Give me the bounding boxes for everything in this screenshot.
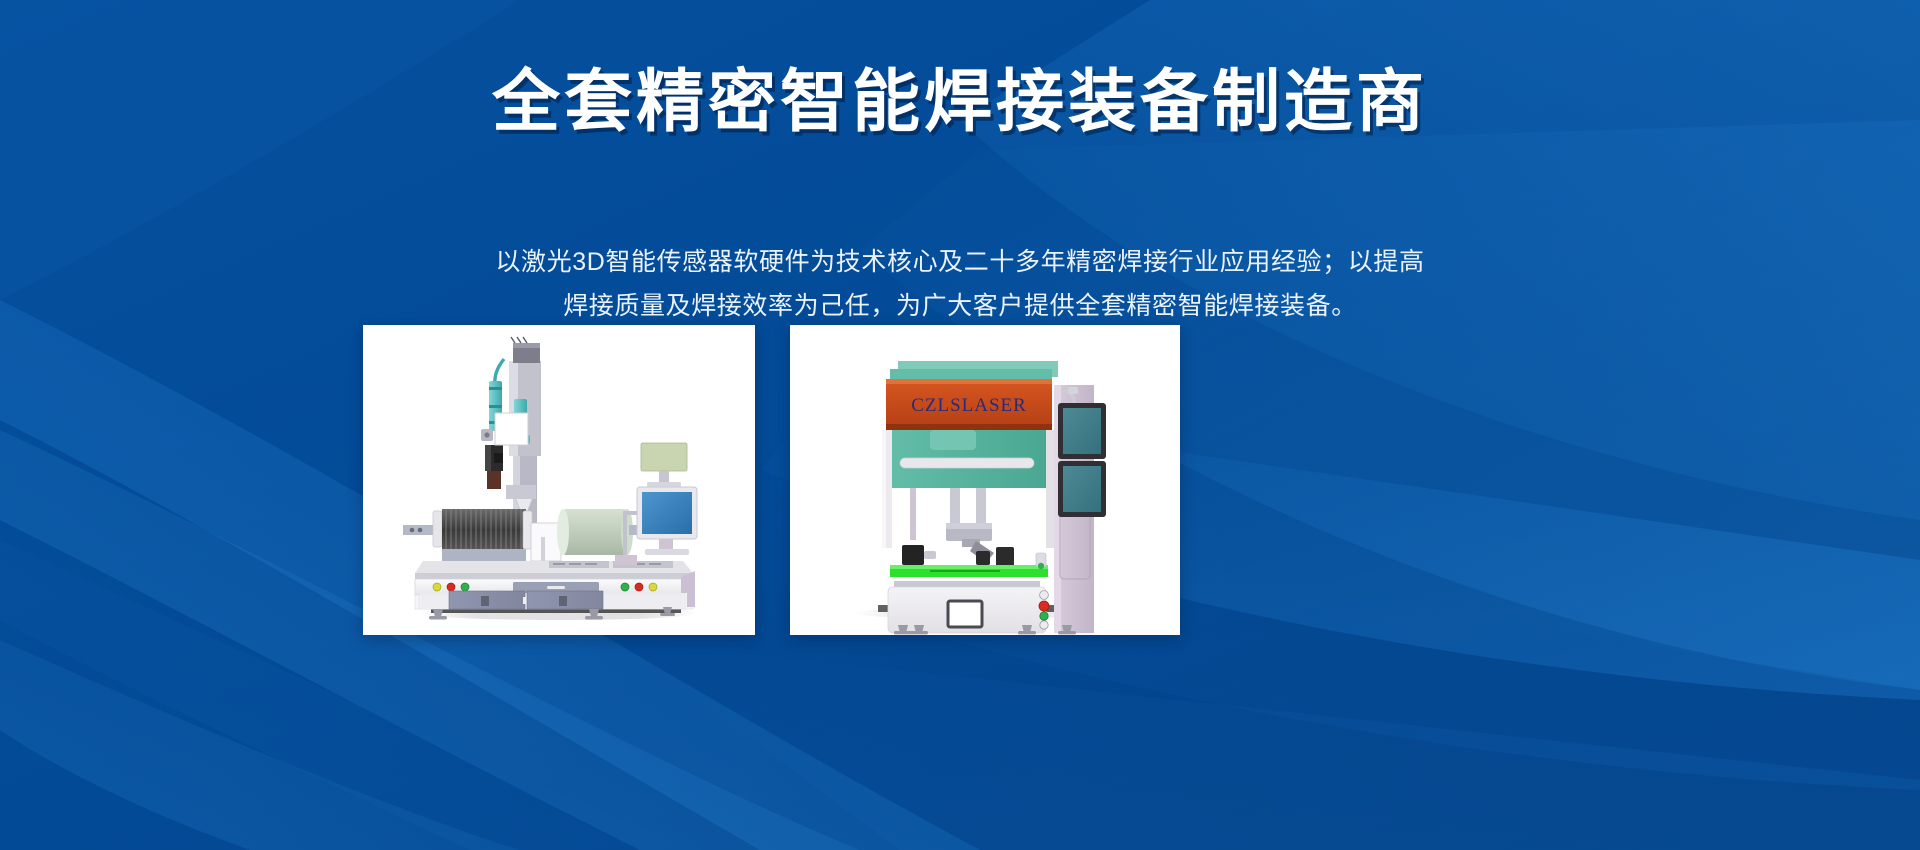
product-image-card-left[interactable] xyxy=(363,325,755,635)
brand-label-text: CZLSLASER xyxy=(911,395,1027,416)
hero-banner: 全套精密智能焊接装备制造商 以激光3D智能传感器软硬件为技术核心及二十多年精密焊… xyxy=(0,0,1920,850)
subtitle-line-1: 以激光3D智能传感器软硬件为技术核心及二十多年精密焊接行业应用经验；以提高 xyxy=(0,240,1920,284)
product-image-card-right[interactable]: CZLSLASER xyxy=(790,325,1180,635)
page-title: 全套精密智能焊接装备制造商 xyxy=(0,62,1920,142)
subtitle-line-2: 焊接质量及焊接效率为己任，为广大客户提供全套精密智能焊接装备。 xyxy=(0,284,1920,328)
subtitle-block: 以激光3D智能传感器软硬件为技术核心及二十多年精密焊接行业应用经验；以提高 焊接… xyxy=(0,240,1920,328)
